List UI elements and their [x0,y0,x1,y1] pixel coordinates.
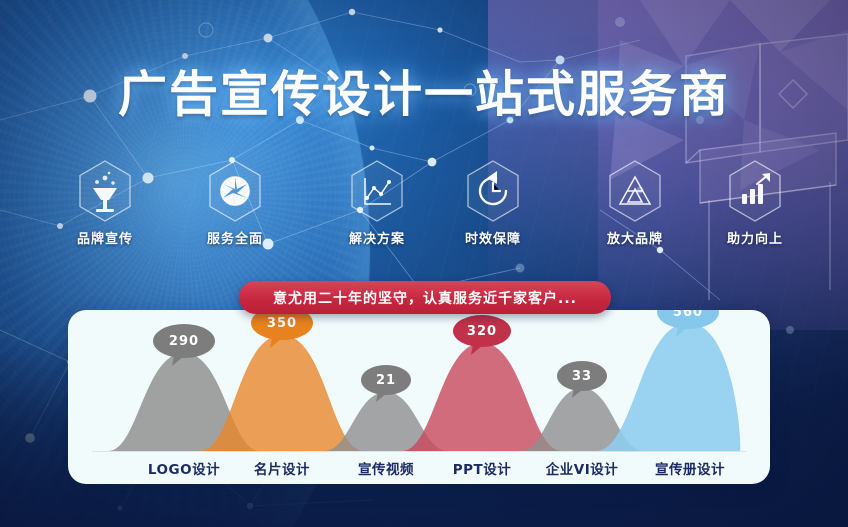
bar-chart-up-icon [725,158,785,224]
value-bubbles [153,310,719,402]
promo-banner-text: 意尤用二十年的坚守，认真服务近千家客户... [273,288,577,308]
feature-item-boost-growth[interactable]: 助力向上 [702,158,808,247]
bell-curve-chart [68,310,770,455]
feature-item-amplify-brand[interactable]: 放大品牌 [582,158,688,247]
feature-item-full-service[interactable]: 服务全面 [182,158,288,247]
feature-item-timeliness[interactable]: 时效保障 [440,158,546,247]
pyramid-icon [605,158,665,224]
feature-label: 品牌宣传 [52,228,158,247]
category-label-brochure-design: 宣传册设计 [620,458,760,478]
line-chart-icon [347,158,407,224]
page-title: 广告宣传设计一站式服务商 [0,55,848,126]
aperture-icon [205,158,265,224]
feature-item-solutions[interactable]: 解决方案 [324,158,430,247]
chart-card: 290 350 21 320 33 560 LOGO设计 名片设计 宣传视频 P… [68,310,770,484]
feature-label: 解决方案 [324,228,430,247]
clock-rewind-icon [463,158,523,224]
feature-label: 服务全面 [182,228,288,247]
feature-item-brand-promotion[interactable]: 品牌宣传 [52,158,158,247]
feature-icon-row: 品牌宣传 [52,158,808,254]
bell-card-design [200,335,364,451]
advertising-service-banner: 广告宣传设计一站式服务商 [0,0,848,527]
chart-baseline [92,451,746,452]
megaphone-icon [75,158,135,224]
category-label-card-design: 名片设计 [222,458,342,478]
feature-label: 放大品牌 [582,228,688,247]
category-label-row: LOGO设计 名片设计 宣传视频 PPT设计 企业VI设计 宣传册设计 [68,453,770,484]
bell-ppt-design [402,343,562,451]
feature-label: 时效保障 [440,228,546,247]
promo-banner: 意尤用二十年的坚守，认真服务近千家客户... [239,281,611,314]
feature-label: 助力向上 [702,228,808,247]
